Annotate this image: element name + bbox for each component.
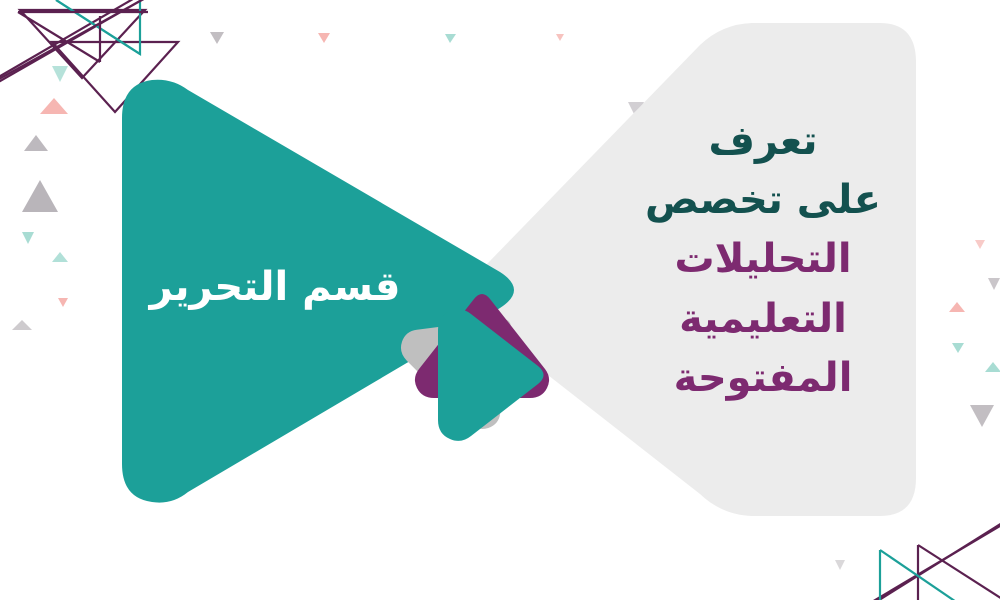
heading-line-1: تعرف (638, 112, 888, 171)
heading-line-3: التحليلات (638, 230, 888, 289)
heading-line-2: على تخصص (638, 171, 888, 230)
heading-line-5: المفتوحة (638, 349, 888, 408)
left-panel-heading: قسم التحرير (130, 262, 420, 312)
heading-line-4: التعليمية (638, 290, 888, 349)
right-panel-heading: تعرف على تخصص التحليلات التعليمية المفتو… (638, 112, 888, 408)
poster-canvas: قسم التحرير تعرف على تخصص التحليلات التع… (0, 0, 1000, 600)
